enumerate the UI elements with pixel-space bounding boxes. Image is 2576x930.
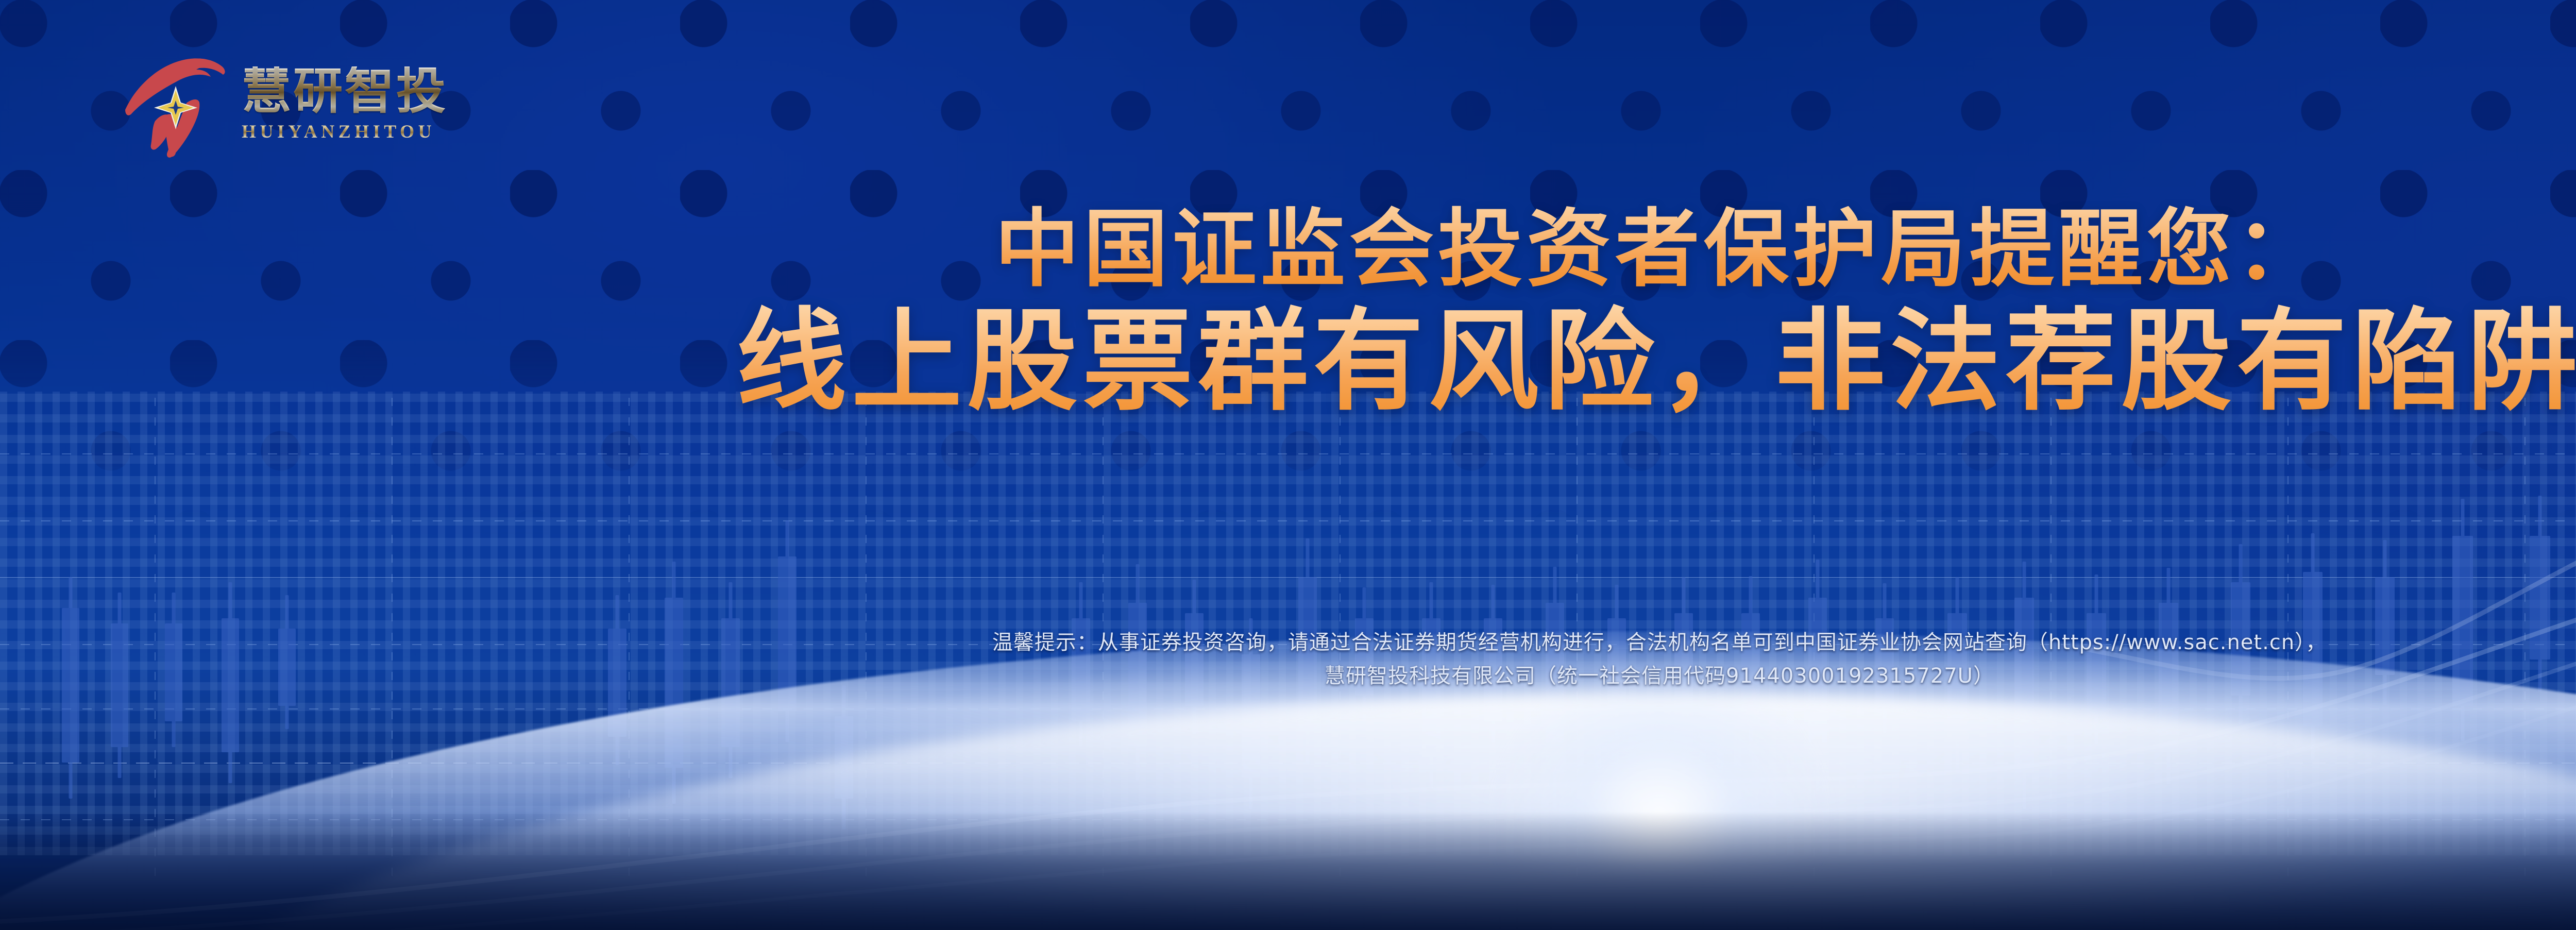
brand-wordmark: 慧研智投 HUIYANZHITOU — [242, 66, 448, 143]
headline-line-1: 中国证监会投资者保护局提醒您： — [0, 202, 2576, 297]
headline-line-2: 线上股票群有风险，非法荐股有陷阱 — [0, 301, 2576, 422]
disclaimer-note: 温馨提示：从事证券投资咨询，请通过合法证券期货经营机构进行，合法机构名单可到中国… — [0, 626, 2576, 693]
brand-logo: 慧研智投 HUIYANZHITOU — [121, 49, 448, 160]
phoenix-bird-mark-icon — [121, 49, 229, 160]
brand-name-en: HUIYANZHITOU — [242, 121, 448, 142]
brand-name-cn: 慧研智投 — [242, 66, 448, 117]
headline-block: 中国证监会投资者保护局提醒您： 线上股票群有风险，非法荐股有陷阱 — [0, 202, 2576, 422]
disclaimer-line-2: 慧研智投科技有限公司（统一社会信用代码91440300192315727U） — [0, 660, 2576, 693]
investor-protection-banner: 慧研智投 HUIYANZHITOU 中国证监会投资者保护局提醒您： 线上股票群有… — [0, 0, 2576, 930]
disclaimer-line-1: 温馨提示：从事证券投资咨询，请通过合法证券期货经营机构进行，合法机构名单可到中国… — [0, 626, 2576, 660]
background-bottom-shade — [0, 811, 2576, 930]
